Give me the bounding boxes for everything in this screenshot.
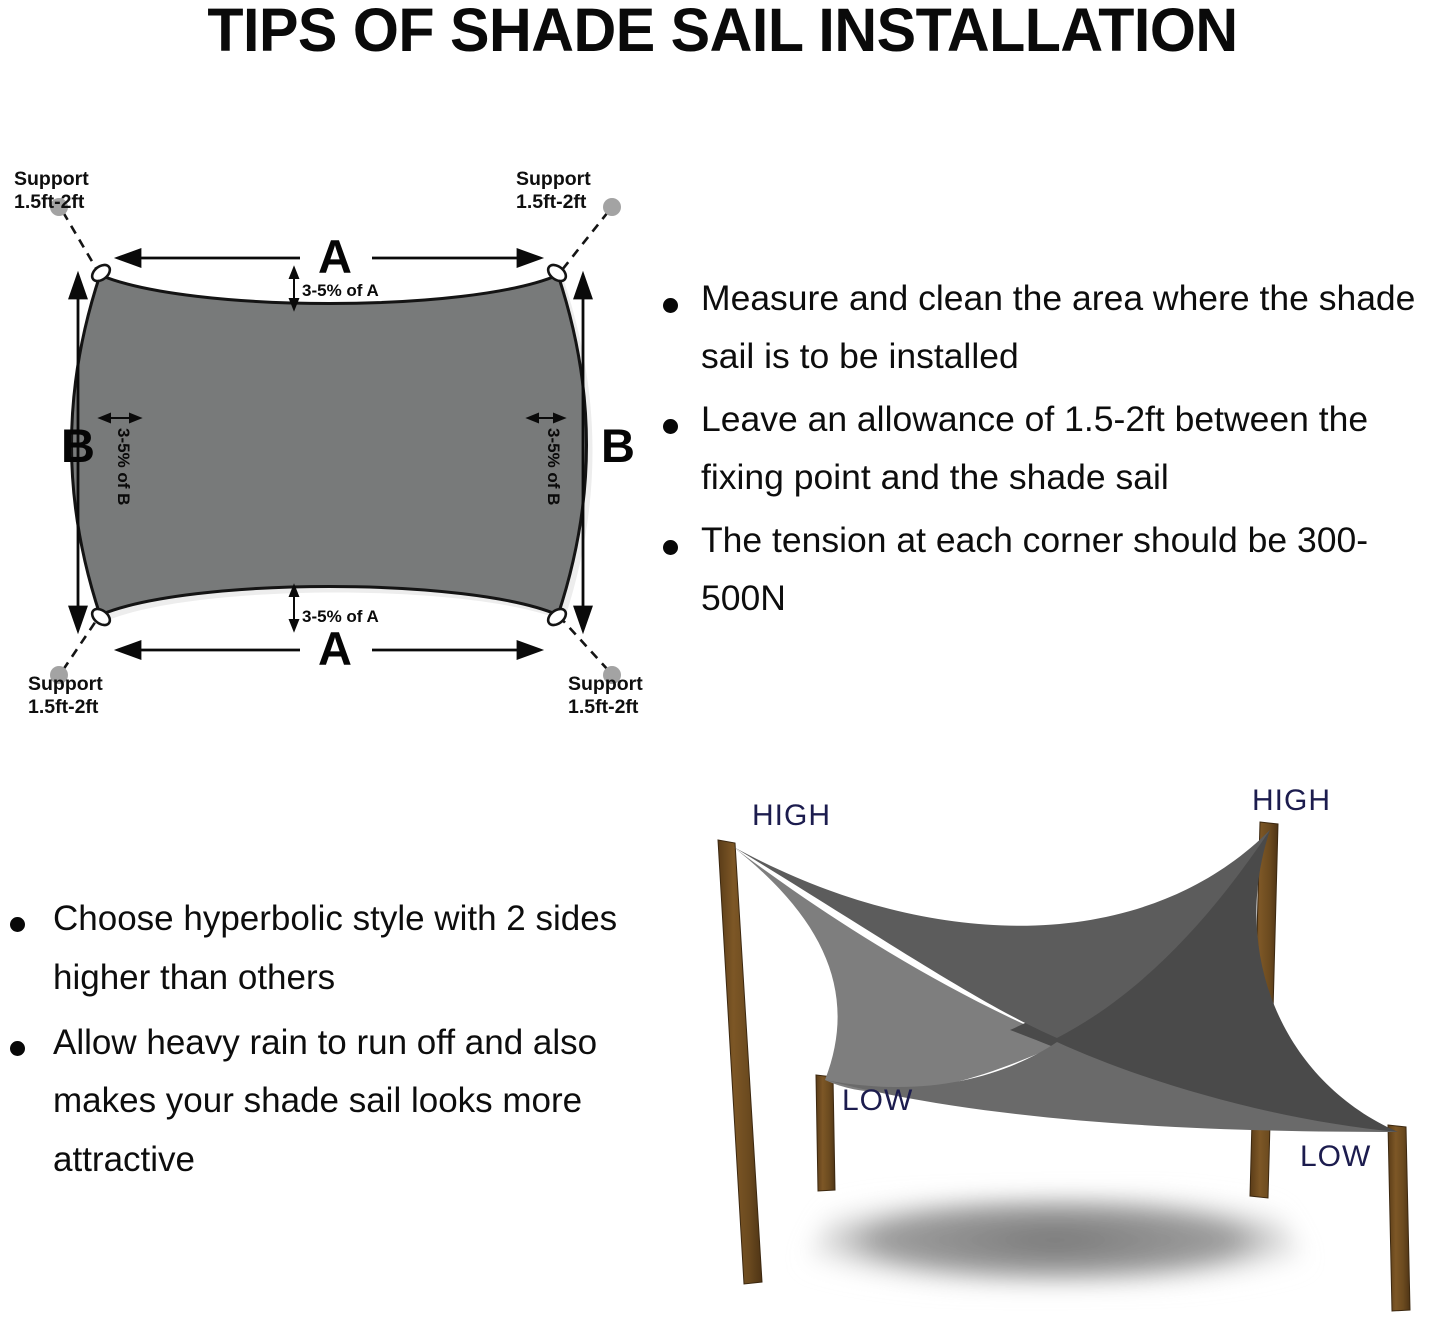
label-high-right: HIGH (1252, 784, 1331, 817)
curve-label-a-top: 3-5% of A (302, 281, 379, 300)
tip-text: Measure and clean the area where the sha… (701, 278, 1415, 376)
hyperbolic-sail-diagram: HIGH HIGH LOW LOW (620, 780, 1445, 1319)
support-label-top-left-line2: 1.5ft-2ft (14, 191, 85, 213)
style-tips-list: Choose hyperbolic style with 2 sides hig… (0, 890, 625, 1190)
label-high-left: HIGH (752, 799, 831, 832)
curve-label-b-left: 3-5% of B (114, 428, 133, 505)
installation-tips-panel: Measure and clean the area where the sha… (645, 270, 1445, 633)
dimension-label-a-top: A (318, 230, 352, 283)
list-item: Choose hyperbolic style with 2 sides hig… (0, 890, 625, 1008)
dimension-label-b-left: B (61, 419, 95, 472)
support-label-top-left-line1: Support (14, 168, 89, 190)
list-item: Leave an allowance of 1.5-2ft between th… (645, 391, 1445, 506)
dimension-label-b-right: B (601, 419, 635, 472)
bullet-dot-icon (663, 419, 678, 434)
pole-low-right (1388, 1125, 1410, 1311)
list-item: The tension at each corner should be 300… (645, 512, 1445, 627)
pole-high-left (718, 840, 762, 1284)
style-tip-text: Choose hyperbolic style with 2 sides hig… (53, 899, 617, 997)
dimension-label-a-bottom: A (318, 622, 352, 675)
support-label-bottom-left-line1: Support (28, 673, 103, 695)
page-title: TIPS OF SHADE SAIL INSTALLATION (22, 0, 1424, 62)
bullet-dot-icon (663, 540, 678, 555)
label-low-right: LOW (1300, 1140, 1371, 1173)
tip-text: Leave an allowance of 1.5-2ft between th… (701, 399, 1368, 497)
curve-label-a-bottom: 3-5% of A (302, 607, 379, 626)
label-low-left: LOW (842, 1084, 913, 1117)
rectangular-sail-diagram: A 3-5% of A A 3-5% of A B (0, 160, 660, 740)
support-label-top-right-line2: 1.5ft-2ft (516, 191, 587, 213)
bullet-dot-icon (10, 917, 25, 932)
style-tip-text: Allow heavy rain to run off and also mak… (53, 1023, 597, 1180)
tip-text: The tension at each corner should be 300… (701, 520, 1368, 618)
pole-low-left (816, 1075, 835, 1191)
support-label-bottom-right-line2: 1.5ft-2ft (568, 696, 639, 718)
list-item: Allow heavy rain to run off and also mak… (0, 1014, 625, 1190)
ground-shadow (790, 1192, 1320, 1288)
style-tips-panel: Choose hyperbolic style with 2 sides hig… (0, 890, 625, 1196)
curve-marker-a-top (290, 268, 298, 309)
installation-tips-list: Measure and clean the area where the sha… (645, 270, 1445, 627)
shade-sail-body (72, 275, 587, 615)
support-label-bottom-left-line2: 1.5ft-2ft (28, 696, 99, 718)
support-label-bottom-right-line1: Support (568, 673, 643, 695)
support-label-top-right-line1: Support (516, 168, 591, 190)
curve-marker-a-bottom (290, 586, 298, 630)
list-item: Measure and clean the area where the sha… (645, 270, 1445, 385)
curve-label-b-right: 3-5% of B (544, 428, 563, 505)
bullet-dot-icon (663, 298, 678, 313)
bullet-dot-icon (10, 1041, 25, 1056)
